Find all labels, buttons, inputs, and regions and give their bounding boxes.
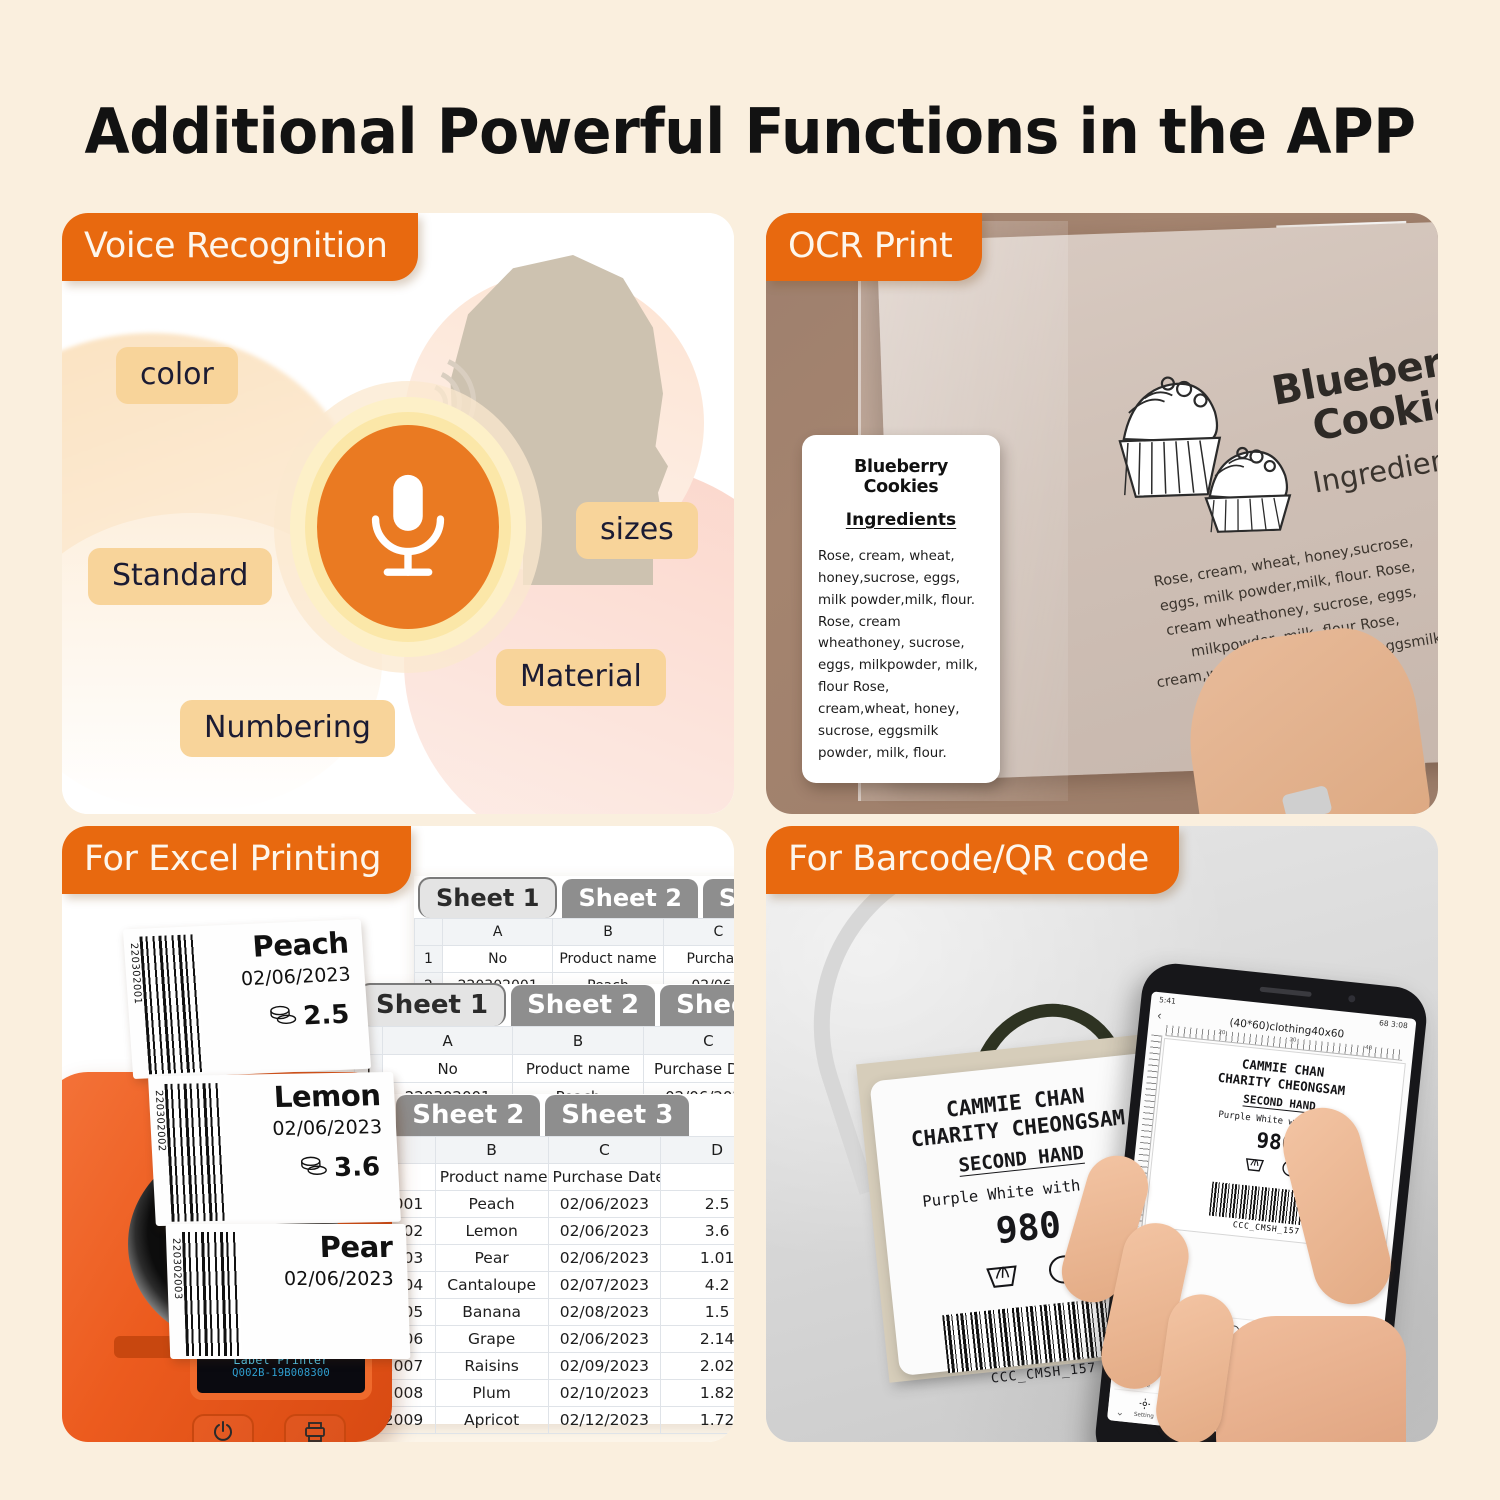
- ruler-mark: 40: [1365, 1045, 1373, 1052]
- scan-icon: [1338, 1386, 1356, 1404]
- header-product: Product name: [553, 946, 663, 973]
- header-no: No: [443, 946, 553, 973]
- col-letter: B: [435, 1137, 548, 1164]
- tool-label: Icon: [1291, 1372, 1303, 1379]
- chevron-left-icon[interactable]: ‹: [1157, 1008, 1162, 1022]
- col-letter: C: [663, 919, 734, 946]
- cell-date: 02/08/2023: [548, 1299, 661, 1326]
- rotate-icon: [1225, 1322, 1243, 1340]
- sheet-tab-bar: Sheet 1 Sheet 2 Sheet: [354, 984, 734, 1026]
- col-letter: D: [661, 1137, 734, 1164]
- sheet-tab-2[interactable]: Sheet 2: [396, 1095, 540, 1136]
- picture-icon: [1133, 1365, 1151, 1383]
- tool-print[interactable]: Print: [1315, 1414, 1358, 1441]
- smartphone-device: 5:41 68 3:08 ‹ (40*60)clothing40x60 20 3…: [1092, 960, 1429, 1442]
- redo-icon: [1321, 1332, 1339, 1350]
- label-product-name: Pear: [319, 1230, 393, 1264]
- hand-wash-icon: [981, 1256, 1025, 1301]
- tool-label: Redo: [1321, 1349, 1336, 1356]
- cell-date: 02/10/2023: [548, 1380, 661, 1407]
- tool-label: Undo: [1289, 1346, 1304, 1353]
- cell-price: 2.14: [661, 1326, 734, 1353]
- text-icon: [1136, 1339, 1154, 1357]
- label-date: 02/06/2023: [272, 1116, 383, 1140]
- tool-label: Picture: [1131, 1381, 1151, 1389]
- label-card-subtitle: Ingredients: [818, 510, 984, 530]
- shape-icon: [1236, 1375, 1254, 1393]
- cell-product: Apricot: [435, 1407, 548, 1434]
- label-price: 3.6: [333, 1152, 381, 1183]
- image-icon: [1290, 1355, 1308, 1373]
- barcode-icon: [164, 1083, 227, 1222]
- barcode-icon: [182, 1232, 242, 1356]
- cell-price: 2.5: [661, 1191, 734, 1218]
- collapse-toolbar-icon[interactable]: ⌄: [1115, 1407, 1124, 1419]
- cell-date: 02/06/2023: [548, 1245, 661, 1272]
- tool-label: Preview: [1261, 1425, 1283, 1433]
- line-icon: [1184, 1370, 1202, 1388]
- ruler-mark: 20: [1218, 1030, 1226, 1037]
- infographic-page: Additional Powerful Functions in the APP: [0, 0, 1500, 1500]
- panel-barcode-qr: CAMMIE CHAN CHARITY CHEONGSAM SECOND HAN…: [766, 826, 1438, 1442]
- phone-camera: [1348, 995, 1356, 1003]
- label-canvas[interactable]: CAMMIE CHAN CHARITY CHEONGSAM SECOND HAN…: [1127, 1034, 1412, 1253]
- circle-care-icon: [1042, 1249, 1086, 1294]
- tool-label: Single: [1256, 1342, 1274, 1350]
- cell-date: 02/06/2023: [548, 1326, 661, 1353]
- printed-label: 220302002 Lemon 02/06/2023 3.6: [148, 1072, 401, 1226]
- cell-date: 02/06/2023: [548, 1191, 661, 1218]
- tool-enlarge[interactable]: Enlarge: [1152, 1314, 1186, 1340]
- tool-label: Shape: [1234, 1392, 1252, 1400]
- cell-price: 1.72: [661, 1407, 734, 1434]
- tool-picture[interactable]: Picture: [1120, 1363, 1163, 1390]
- power-icon: [211, 1420, 235, 1443]
- col-letter: C: [643, 1027, 734, 1055]
- label-card-title: Blueberry Cookies: [818, 457, 984, 497]
- sheet-tab-3[interactable]: Sheet: [660, 985, 734, 1026]
- tool-label: Line: [1186, 1387, 1198, 1394]
- col-letter: C: [548, 1137, 661, 1164]
- chip-material[interactable]: Material: [496, 649, 666, 706]
- tool-scan[interactable]: Scan: [1325, 1385, 1368, 1412]
- tool-redo[interactable]: Redo: [1312, 1331, 1346, 1357]
- preview-icon: [1265, 1409, 1283, 1427]
- label-price: 2.5: [302, 1000, 350, 1032]
- tool-qr-code[interactable]: QR code: [1225, 1348, 1268, 1375]
- tool-line[interactable]: Line: [1171, 1369, 1214, 1396]
- setting-icon: [1136, 1395, 1154, 1413]
- sheet-tab-bar: Sheet 1 Sheet 2 S: [414, 876, 734, 918]
- row-number: 1: [415, 946, 443, 973]
- cell-date: 02/06/2023: [548, 1218, 661, 1245]
- tool-delete[interactable]: Delete: [1120, 1311, 1154, 1337]
- chip-numbering[interactable]: Numbering: [180, 700, 395, 757]
- cell-date: 02/09/2023: [548, 1353, 661, 1380]
- add-icon: [1353, 1335, 1371, 1353]
- tool-form[interactable]: Form: [1328, 1359, 1371, 1386]
- header-date: Purchase: [663, 946, 734, 973]
- cell-price: 4.2: [661, 1272, 734, 1299]
- tool-label: Delete: [1127, 1329, 1146, 1337]
- header-date: Purchase Date: [643, 1055, 734, 1083]
- chip-color[interactable]: color: [116, 347, 238, 404]
- tool-label: Scan: [1339, 1403, 1353, 1410]
- panel-excel-printing: Sheet 1 Sheet 2 S A B C 1 No Product nam…: [62, 826, 734, 1442]
- tool-shape[interactable]: Shape: [1222, 1374, 1265, 1401]
- header-date: Purchase Date: [548, 1164, 661, 1191]
- cell-date: 02/12/2023: [548, 1407, 661, 1434]
- barcode-icon: [139, 934, 205, 1074]
- printed-label-card: Blueberry Cookies Ingredients Rose, crea…: [802, 435, 1000, 783]
- microphone-icon: [360, 466, 456, 589]
- cell-price: 1.82: [661, 1380, 734, 1407]
- save-icon: [1200, 1402, 1218, 1420]
- cell-product: Cantaloupe: [435, 1272, 548, 1299]
- sheet-tab-2[interactable]: Sheet 2: [511, 985, 655, 1026]
- col-letter: B: [553, 919, 663, 946]
- cell-price: 3.6: [661, 1218, 734, 1245]
- cell-product: Peach: [435, 1191, 548, 1218]
- label-product-name: Peach: [251, 926, 349, 964]
- circle-care-icon: [1278, 1157, 1305, 1185]
- tool-label: Rotate: [1223, 1339, 1242, 1347]
- app-toolbar: Delete Enlarge Shrink: [1107, 1306, 1384, 1442]
- hand-wash-icon: [1241, 1153, 1268, 1181]
- print-icon: [1329, 1415, 1347, 1433]
- phone-screen: 5:41 68 3:08 ‹ (40*60)clothing40x60 20 3…: [1107, 991, 1417, 1442]
- power-button[interactable]: [192, 1414, 254, 1442]
- tool-icon[interactable]: Icon: [1276, 1354, 1319, 1381]
- cell-product: Grape: [435, 1326, 548, 1353]
- col-letter: A: [443, 919, 553, 946]
- coins-icon: [298, 1154, 330, 1183]
- tool-label: Enlarge: [1158, 1332, 1180, 1340]
- tool-undo[interactable]: Undo: [1280, 1328, 1314, 1354]
- badge-barcode-qr: For Barcode/QR code: [766, 826, 1179, 894]
- tool-rotate[interactable]: Rotate: [1216, 1321, 1250, 1347]
- tool-label: Time: [1287, 1398, 1301, 1405]
- status-indicators: 68 3:08: [1379, 1018, 1409, 1030]
- label-preview[interactable]: CAMMIE CHAN CHARITY CHEONGSAM SECOND HAN…: [1144, 1038, 1406, 1252]
- microphone-button[interactable]: [317, 425, 499, 629]
- tool-label: 1D code: [1183, 1361, 1207, 1369]
- label-card-body: Rose, cream, wheat, honey,sucrose, eggs,…: [818, 546, 984, 764]
- tool-add[interactable]: Add: [1345, 1335, 1379, 1361]
- sheet-tab-1[interactable]: Sheet 1: [418, 877, 557, 918]
- panel-ocr-print: Blueberry Cookies Ingredients Rose, crea…: [766, 213, 1438, 814]
- table-icon: [1341, 1360, 1359, 1378]
- cell-product: Banana: [435, 1299, 548, 1326]
- tool-text[interactable]: Text: [1122, 1337, 1165, 1364]
- plus-circle-icon: [1161, 1315, 1179, 1333]
- tool-label: Print: [1330, 1432, 1343, 1439]
- coins-icon: [267, 1002, 299, 1032]
- delete-icon: [1129, 1312, 1147, 1330]
- cell-price: 2.02: [661, 1353, 734, 1380]
- header-product: Product name: [513, 1055, 643, 1083]
- phone-speaker: [1260, 987, 1312, 997]
- col-letter: B: [513, 1027, 643, 1055]
- minus-circle-icon: [1193, 1319, 1211, 1337]
- label-barcode-number: 220302003: [170, 1238, 183, 1300]
- undo-icon: [1289, 1329, 1307, 1347]
- tool-single[interactable]: Single: [1248, 1324, 1282, 1350]
- sheet-tab-3[interactable]: Sheet 3: [545, 1095, 689, 1136]
- tool-label: QR code: [1234, 1366, 1258, 1374]
- tool-1d-code[interactable]: 1D code: [1174, 1343, 1217, 1370]
- tool-label: Add: [1355, 1353, 1366, 1360]
- panel-voice-recognition: color Standard Numbering sizes Material …: [62, 213, 734, 814]
- printer-icon: [303, 1420, 327, 1443]
- tool-time[interactable]: Time: [1274, 1379, 1317, 1406]
- cell-date: 02/07/2023: [548, 1272, 661, 1299]
- tool-save[interactable]: Save: [1187, 1400, 1230, 1427]
- tool-label: Setting: [1134, 1412, 1155, 1420]
- qrcode-icon: [1238, 1349, 1256, 1367]
- label-date: 02/06/2023: [240, 963, 351, 990]
- cell-price: 1.01: [661, 1245, 734, 1272]
- badge-voice-recognition: Voice Recognition: [62, 213, 418, 281]
- cell-product: Plum: [435, 1380, 548, 1407]
- cell-product: Raisins: [435, 1353, 548, 1380]
- chip-standard[interactable]: Standard: [88, 548, 272, 605]
- tool-label: Shrink: [1191, 1335, 1209, 1343]
- tool-preview[interactable]: Preview: [1251, 1407, 1294, 1434]
- badge-excel-printing: For Excel Printing: [62, 826, 411, 894]
- sheet-tab-3[interactable]: S: [703, 879, 734, 918]
- phone-home-button[interactable]: [1220, 1436, 1255, 1442]
- printed-label: 220302001 Peach 02/06/2023 2.5: [123, 919, 371, 1079]
- label-product-name: Lemon: [273, 1078, 381, 1114]
- tool-shrink[interactable]: Shrink: [1184, 1318, 1218, 1344]
- badge-ocr-print: OCR Print: [766, 213, 982, 281]
- ruler-mark: 30: [1289, 1037, 1297, 1044]
- cell-product: Lemon: [435, 1218, 548, 1245]
- header-product: Product name: [435, 1164, 548, 1191]
- tool-label: Text: [1137, 1356, 1149, 1363]
- check-circle-icon: [1257, 1325, 1275, 1343]
- barcode-icon: [1187, 1344, 1205, 1362]
- cell-product: Pear: [435, 1245, 548, 1272]
- status-time-left: 5:41: [1159, 995, 1177, 1006]
- chip-sizes[interactable]: sizes: [576, 502, 698, 559]
- oled-line-2: Q002B-19B008300: [232, 1367, 330, 1379]
- page-title: Additional Powerful Functions in the APP: [45, 95, 1455, 168]
- clock-icon: [1287, 1381, 1305, 1399]
- cell-price: 1.5: [661, 1299, 734, 1326]
- sheet-tab-2[interactable]: Sheet 2: [562, 879, 697, 918]
- tool-label: Form: [1341, 1377, 1356, 1384]
- print-button[interactable]: [284, 1414, 346, 1442]
- label-roll-strip: 220302001 Peach 02/06/2023 2.5: [110, 924, 410, 1344]
- tool-setting[interactable]: Setting: [1123, 1394, 1166, 1421]
- printed-label: 220302003 Pear 02/06/2023: [166, 1224, 411, 1359]
- tool-label: Save: [1201, 1419, 1215, 1426]
- label-date: 02/06/2023: [284, 1268, 394, 1290]
